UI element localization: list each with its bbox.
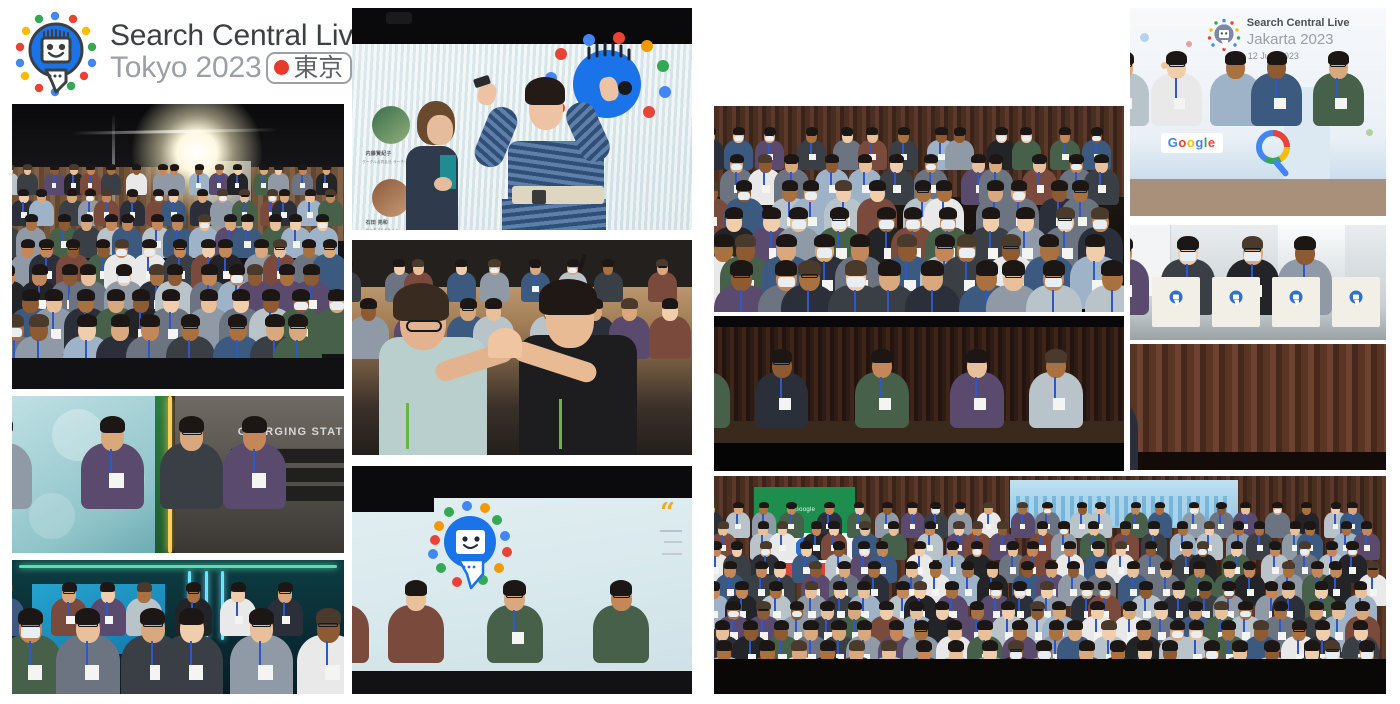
photo-jakarta-panel-stage xyxy=(714,316,1124,471)
photo-jakarta-audience-question xyxy=(1130,344,1386,470)
panel-jakarta: Search Central Live Jakarta 2023 xyxy=(700,0,1400,704)
photo-jakarta-photowall: Search Central Live Jakarta 2023 12 July… xyxy=(1130,8,1386,216)
photo-tokyo-heart-gesture xyxy=(352,240,692,455)
tokyo-city-badge: 東京 xyxy=(266,52,352,84)
speaker-1-name: 内藤賢紀子 xyxy=(366,150,392,157)
magnifier-prop-icon xyxy=(1253,129,1299,179)
photo-tokyo-afterparty xyxy=(12,560,344,694)
tokyo-title-line-2: Tokyo 2023 東京 xyxy=(110,51,370,84)
tokyo-city-year: Tokyo 2023 xyxy=(110,51,261,84)
collage-root: Search Central Live Tokyo 2023 東京 xyxy=(0,0,1400,704)
speaker-2-name: 石田 亮和 xyxy=(366,219,388,226)
search-central-mascot-icon xyxy=(8,6,102,98)
tokyo-event-lockup: Search Central Live Tokyo 2023 東京 xyxy=(8,6,370,98)
panel-tokyo: Search Central Live Tokyo 2023 東京 xyxy=(0,0,700,704)
photo-tokyo-charging-station: CHARGING STATION xyxy=(12,396,344,553)
tokyo-title-line-1: Search Central Live xyxy=(110,20,370,52)
photo-tokyo-audience-group xyxy=(12,104,344,389)
photo-tokyo-stage-yukata: 内藤賢紀子 グーグル合同会社 サーチリレーション 石田 亮和 サーチアドボケイト xyxy=(352,8,692,230)
photo-tokyo-panel-discussion: “ xyxy=(352,466,692,694)
speaker-2-role: サーチアドボケイト xyxy=(366,228,399,230)
photo-jakarta-group-photo: Google xyxy=(714,476,1386,694)
photo-jakarta-tote-bags xyxy=(1130,225,1386,340)
japan-flag-dot-icon xyxy=(274,60,289,75)
photo-jakarta-audience-waving xyxy=(714,106,1124,312)
tokyo-city-badge-label: 東京 xyxy=(293,55,343,80)
